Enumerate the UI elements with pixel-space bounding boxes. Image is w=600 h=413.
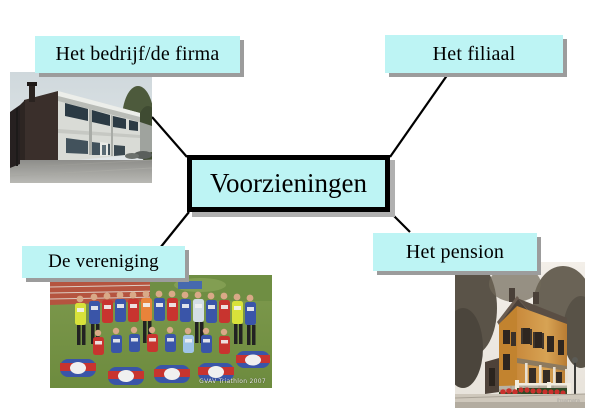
node-label-filiaal-text: Het filiaal — [433, 43, 516, 66]
node-label-vereniging[interactable]: De vereniging — [22, 246, 185, 278]
central-node-voorzieningen[interactable]: Voorzieningen — [187, 155, 390, 212]
node-label-filiaal[interactable]: Het filiaal — [385, 35, 563, 73]
node-label-bedrijf[interactable]: Het bedrijf/de firma — [35, 36, 240, 73]
node-label-bedrijf-text: Het bedrijf/de firma — [56, 43, 220, 66]
guesthouse-photo: ihsamara — [455, 262, 585, 408]
sports-club-team-photo: GVAV Triathlon 2007 — [50, 275, 272, 388]
node-label-pension-text: Het pension — [406, 241, 504, 264]
connector-center-to-filiaal — [390, 74, 448, 157]
connector-center-to-bedrijf — [152, 117, 187, 157]
node-label-pension[interactable]: Het pension — [373, 233, 537, 271]
node-label-vereniging-text: De vereniging — [48, 251, 159, 273]
diagram-canvas: GVAV Triathlon 2007 — [0, 0, 600, 413]
photo-watermark-faint: ihsamara — [557, 398, 580, 404]
connector-center-to-pension — [390, 212, 410, 232]
photo-watermark: GVAV Triathlon 2007 — [199, 378, 266, 385]
connector-center-to-vereniging — [160, 212, 189, 248]
office-building-photo — [10, 72, 152, 183]
central-node-label: Voorzieningen — [210, 168, 367, 199]
